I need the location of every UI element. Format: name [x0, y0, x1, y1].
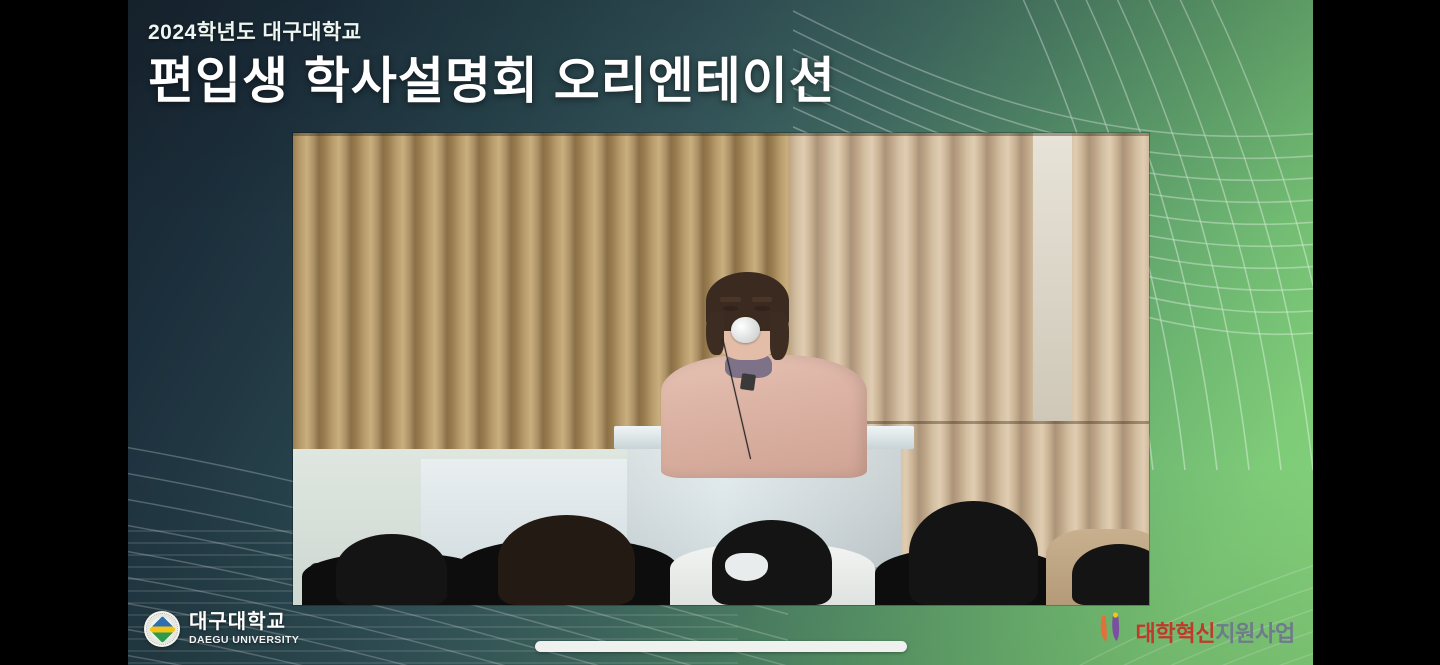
- audience-head: [498, 515, 635, 605]
- wall-flat-column: [1033, 133, 1072, 421]
- audience-head: [336, 534, 447, 605]
- logo-english-name: DAEGU UNIVERSITY: [189, 635, 299, 646]
- presentation-photo: [293, 133, 1149, 605]
- microphone-icon: [731, 317, 759, 343]
- u-shaped-innovation-mark-icon: [1096, 611, 1130, 647]
- letterbox-right: [1313, 0, 1440, 665]
- slide-eyebrow: 2024학년도 대구대학교: [148, 16, 836, 46]
- audience-head: [1072, 544, 1149, 605]
- letterbox-left: [0, 0, 128, 665]
- page-title: 편입생 학사설명회 오리엔테이션: [148, 54, 836, 108]
- university-emblem-icon: [144, 611, 180, 647]
- screen: 2024학년도 대구대학교 편입생 학사설명회 오리엔테이션: [0, 0, 1440, 665]
- slide-header: 2024학년도 대구대학교 편입생 학사설명회 오리엔테이션: [148, 16, 836, 108]
- audience-head: [909, 501, 1037, 605]
- logo-text-secondary: 지원사업: [1215, 621, 1295, 646]
- logo-text-primary: 대학혁신: [1135, 621, 1215, 646]
- video-progress-bar[interactable]: [535, 641, 907, 652]
- logo-korean-name: 대구대학교: [189, 612, 299, 632]
- presentation-slide: 2024학년도 대구대학교 편입생 학사설명회 오리엔테이션: [128, 0, 1313, 665]
- innovation-program-logo: 대학혁신지원사업: [1096, 611, 1295, 647]
- daegu-university-logo: 대구대학교 DAEGU UNIVERSITY: [144, 611, 299, 647]
